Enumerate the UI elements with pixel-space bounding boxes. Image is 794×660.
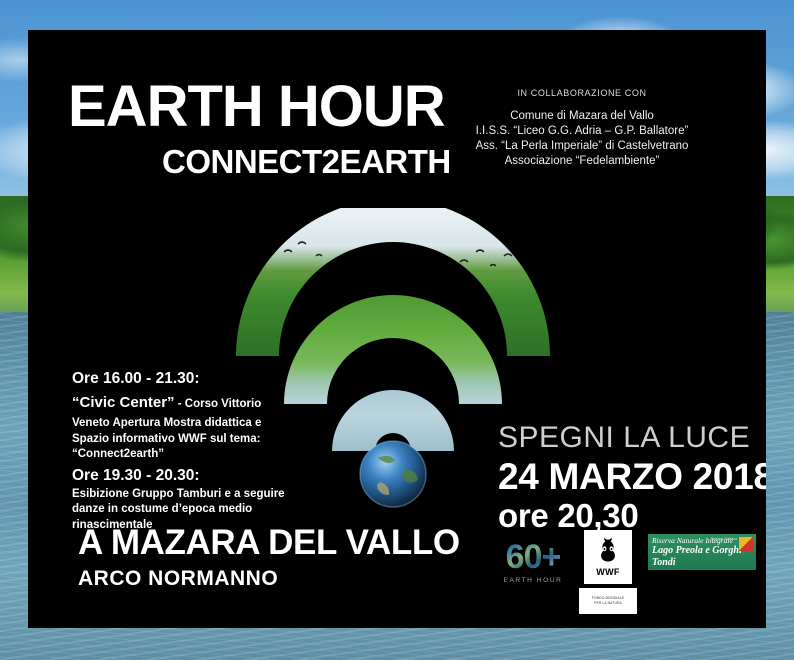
event-date: 24 MARZO 2018 (498, 456, 766, 497)
earth-hour-60-caption: EARTH HOUR (504, 577, 563, 584)
location-venue: ARCO NORMANNO (78, 568, 460, 590)
wwf-logo: WWF (584, 530, 632, 584)
earth-hour-poster: EARTH HOUR CONNECT2EARTH IN COLLABORAZIO… (0, 0, 794, 660)
earth-hour-60-logo: 60+ EARTH HOUR (496, 534, 570, 590)
riserva-region-label: Regione Siciliana (711, 537, 737, 542)
program-slot2-time: Ore 19.30 - 20.30: (72, 466, 287, 486)
headline-earth-hour: EARTH HOUR (68, 78, 451, 136)
program-slot1-time: Ore 16.00 - 21.30: (72, 369, 287, 389)
program-slot1-venue: “Civic Center” - Corso Vittorio (72, 392, 287, 415)
collaboration-block: IN COLLABORAZIONE CON Comune di Mazara d… (432, 88, 732, 169)
tagline-spegni-la-luce: SPEGNI LA LUCE (498, 422, 766, 454)
program-slot1-detail: “Connect2earth” (72, 447, 287, 462)
program-slot2-detail: danze in costume d’epoca medio (72, 502, 287, 517)
wwf-sub-line-2: PER LA NATURA (594, 601, 622, 606)
program-slot1-detail: Veneto Apertura Mostra didattica e (72, 416, 287, 431)
poster-headline: EARTH HOUR CONNECT2EARTH (68, 78, 451, 178)
wifi-arc-middle (284, 295, 502, 404)
riserva-naturale-logo: Riserva Naturale Integrale Lago Preola e… (648, 534, 756, 570)
program-schedule: Ore 16.00 - 21.30: “Civic Center” - Cors… (72, 365, 287, 532)
riserva-line-2: Lago Preola e Gorghi Tondi (652, 545, 752, 569)
collaboration-partner: I.I.S.S. “Liceo G.G. Adria – G.P. Ballat… (432, 124, 732, 139)
venue-name: “Civic Center” (72, 394, 175, 411)
wwf-secondary-logo: FONDO MONDIALE PER LA NATURA (579, 588, 637, 614)
earth-hour-60-number: 60+ (506, 540, 561, 574)
collaboration-title: IN COLLABORAZIONE CON (432, 88, 732, 98)
wwf-wordmark: WWF (596, 567, 619, 577)
headline-connect2earth: CONNECT2EARTH (162, 145, 451, 178)
collaboration-partner: Ass. “La Perla Imperiale” di Castelvetra… (432, 139, 732, 154)
venue-address: - Corso Vittorio (175, 398, 262, 410)
call-to-action-block: SPEGNI LA LUCE 24 MARZO 2018 ore 20,30 (498, 422, 766, 535)
riserva-line-1: Riserva Naturale Integrale (652, 536, 752, 545)
program-slot2-detail: Esibizione Gruppo Tamburi e a seguire (72, 487, 287, 502)
panda-icon (594, 537, 622, 565)
sponsor-logo-strip: 60+ EARTH HOUR WWF FONDO MONDIALE PER LA… (496, 530, 758, 622)
collaboration-partner: Comune di Mazara del Vallo (432, 109, 732, 124)
program-slot1-detail: Spazio informativo WWF sul tema: (72, 432, 287, 447)
sicily-flag-icon (739, 537, 753, 551)
event-location: A MAZARA DEL VALLO ARCO NORMANNO (78, 525, 460, 590)
collaboration-partner: Associazione “Fedelambiente” (432, 154, 732, 169)
location-city: A MAZARA DEL VALLO (78, 525, 460, 562)
poster-panel: EARTH HOUR CONNECT2EARTH IN COLLABORAZIO… (28, 30, 766, 628)
